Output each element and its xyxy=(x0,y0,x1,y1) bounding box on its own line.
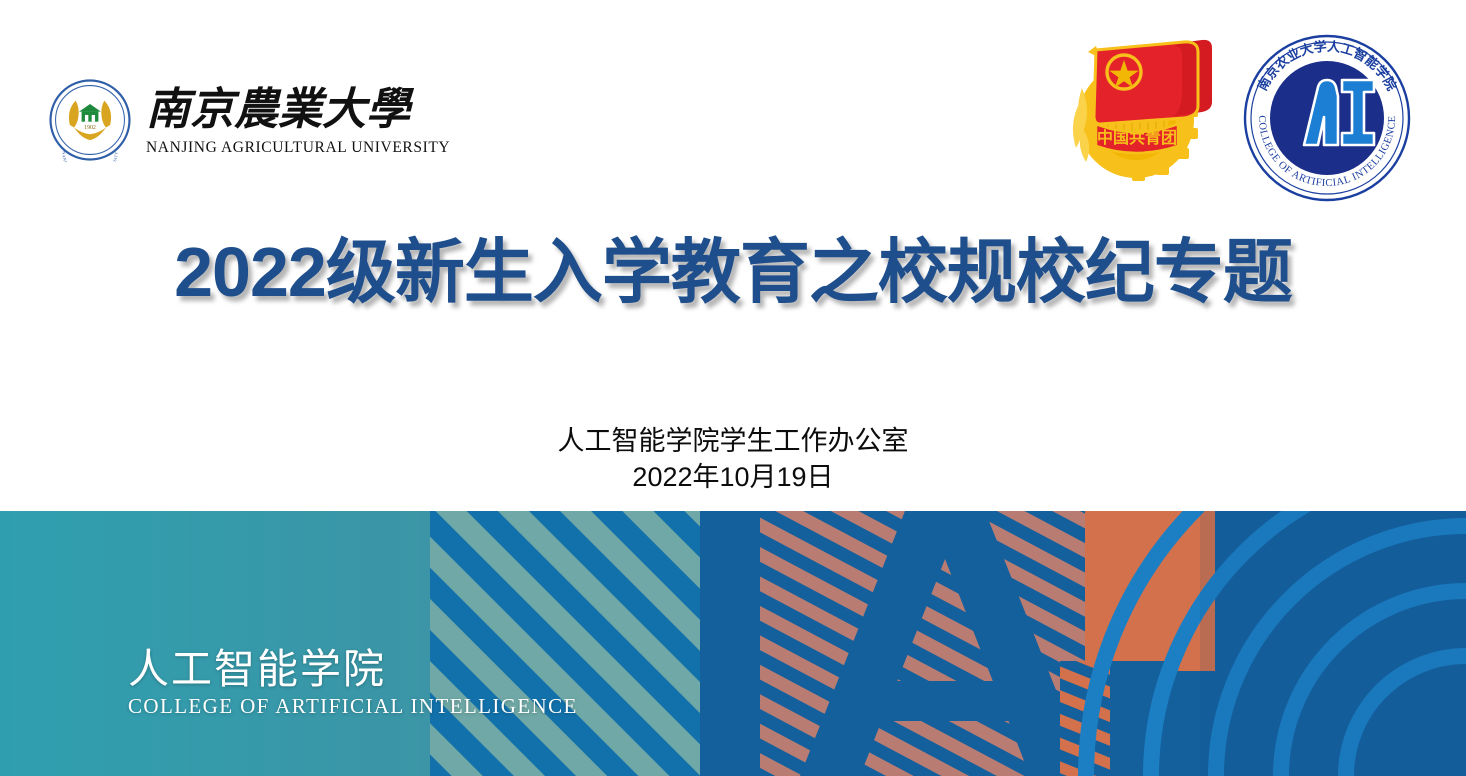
banner-graphic xyxy=(0,511,1466,776)
university-wordmark: 南京農業大學 NANJING AGRICULTURAL UNIVERSITY xyxy=(146,83,450,157)
slide-title: 2022级新生入学教育之校规校纪专题 xyxy=(0,216,1466,317)
subtitle-block: 人工智能学院学生工作办公室 2022年10月19日 xyxy=(0,424,1466,496)
nanjing-agricultural-university-seal: 1902 南京農業大學 NANJING AGRICULTURAL UNIVERS… xyxy=(48,78,132,162)
communist-youth-league-emblem: 中国共青团 xyxy=(1052,28,1228,188)
youth-league-banner-text: 中国共青团 xyxy=(1097,128,1177,147)
university-name-en: NANJING AGRICULTURAL UNIVERSITY xyxy=(146,139,450,157)
banner-college-name-en: COLLEGE OF ARTIFICIAL INTELLIGENCE xyxy=(128,694,578,719)
banner-college-name-cn: 人工智能学院 xyxy=(128,648,578,691)
bottom-banner xyxy=(0,511,1466,776)
presentation-slide: 1902 南京農業大學 NANJING AGRICULTURAL UNIVERS… xyxy=(0,0,1466,776)
university-name-cn-text: 南京農業大學 xyxy=(146,85,414,134)
svg-text:1902: 1902 xyxy=(84,125,96,131)
university-name-cn-calligraphy: 南京農業大學 xyxy=(146,83,414,137)
banner-college-name: 人工智能学院 COLLEGE OF ARTIFICIAL INTELLIGENC… xyxy=(128,648,578,719)
college-of-artificial-intelligence-seal: 南京农业大学人工智能学院 COLLEGE OF ARTIFICIAL INTEL… xyxy=(1238,33,1416,203)
subtitle-organization: 人工智能学院学生工作办公室 xyxy=(0,424,1466,460)
subtitle-date: 2022年10月19日 xyxy=(0,460,1466,496)
university-logo: 1902 南京農業大學 NANJING AGRICULTURAL UNIVERS… xyxy=(48,78,450,162)
